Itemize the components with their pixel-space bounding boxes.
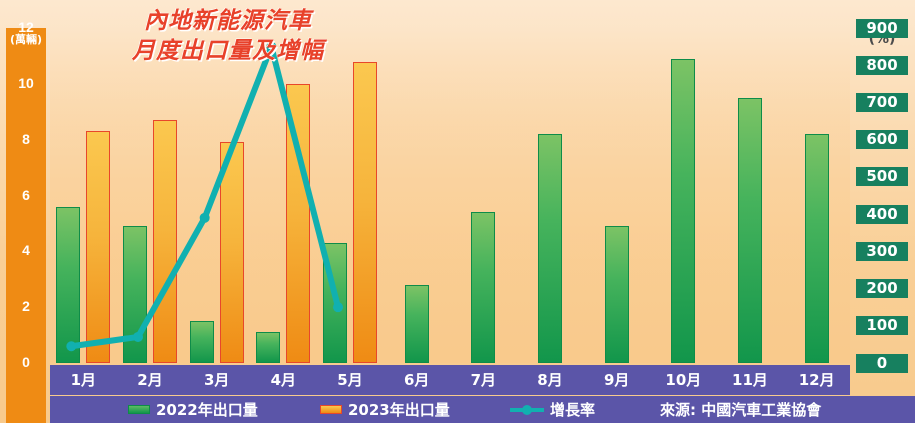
bar-2022-10月 (671, 59, 695, 363)
right-axis-tick: 0 (856, 354, 908, 373)
bar-2022-9月 (605, 226, 629, 363)
x-axis-label-12月: 12月 (783, 369, 850, 390)
legend-item-1: 2022年出口量 (128, 399, 258, 420)
x-axis-label-3月: 3月 (183, 369, 250, 390)
left-axis-tick: 12 (6, 19, 46, 35)
legend-label: 增長率 (550, 399, 595, 420)
bar-2022-2月 (123, 226, 147, 363)
left-axis-tick: 10 (6, 75, 46, 91)
left-axis-tick: 4 (6, 242, 46, 258)
bar-2022-8月 (538, 134, 562, 363)
right-axis-tick: 600 (856, 130, 908, 149)
right-axis-tick: 300 (856, 242, 908, 261)
bar-2022-3月 (190, 321, 214, 363)
orange-swatch-icon (320, 405, 342, 414)
x-axis-label-2月: 2月 (117, 369, 184, 390)
legend-label: 2023年出口量 (348, 399, 450, 420)
bar-2023-4月 (286, 84, 310, 363)
left-axis-tick: 6 (6, 187, 46, 203)
legend-label: 2022年出口量 (156, 399, 258, 420)
bar-2022-7月 (471, 212, 495, 363)
plot-area (50, 28, 850, 363)
x-axis-label-11月: 11月 (717, 369, 784, 390)
x-axis-label-6月: 6月 (383, 369, 450, 390)
right-axis-panel: (%) 9008007006005004003002001000 (852, 28, 912, 400)
right-axis-tick: 800 (856, 56, 908, 75)
left-axis-tick: 2 (6, 298, 46, 314)
bar-2022-4月 (256, 332, 280, 363)
right-axis-tick: 500 (856, 167, 908, 186)
bar-2022-11月 (738, 98, 762, 363)
x-axis-label-8月: 8月 (517, 369, 584, 390)
x-axis-label-9月: 9月 (583, 369, 650, 390)
x-axis-label-10月: 10月 (650, 369, 717, 390)
legend-item-2: 2023年出口量 (320, 399, 450, 420)
right-axis-tick: 400 (856, 205, 908, 224)
teal-line-swatch-icon (510, 405, 544, 415)
x-axis-label-4月: 4月 (250, 369, 317, 390)
bar-2022-12月 (805, 134, 829, 363)
bar-2023-5月 (353, 62, 377, 364)
legend-item-3: 增長率 (510, 399, 595, 420)
bar-2023-2月 (153, 120, 177, 363)
left-axis-panel: (萬輛) 121086420 (6, 28, 46, 400)
bar-2023-1月 (86, 131, 110, 363)
line-marker-dot (522, 405, 532, 415)
left-axis-footer (6, 396, 46, 423)
bar-2023-3月 (220, 142, 244, 363)
right-axis-tick: 200 (856, 279, 908, 298)
source-attribution: 來源: 中國汽車工業協會 (660, 399, 821, 420)
right-axis-tick: 700 (856, 93, 908, 112)
x-axis-label-7月: 7月 (450, 369, 517, 390)
bar-2022-5月 (323, 243, 347, 363)
bar-2022-6月 (405, 285, 429, 363)
left-axis-tick: 0 (6, 354, 46, 370)
right-axis-tick: 900 (856, 19, 908, 38)
left-axis-tick: 8 (6, 131, 46, 147)
right-axis-tick: 100 (856, 316, 908, 335)
bar-2022-1月 (56, 207, 80, 363)
x-axis-label-1月: 1月 (50, 369, 117, 390)
x-axis-label-5月: 5月 (317, 369, 384, 390)
green-swatch-icon (128, 405, 150, 414)
chart-root: 內地新能源汽車 月度出口量及增幅 (萬輛) 121086420 1月2月3月4月… (0, 0, 915, 423)
legend-bar: 2022年出口量2023年出口量增長率 來源: 中國汽車工業協會 (50, 396, 915, 423)
x-axis-month-labels: 1月2月3月4月5月6月7月8月9月10月11月12月 (50, 365, 850, 395)
